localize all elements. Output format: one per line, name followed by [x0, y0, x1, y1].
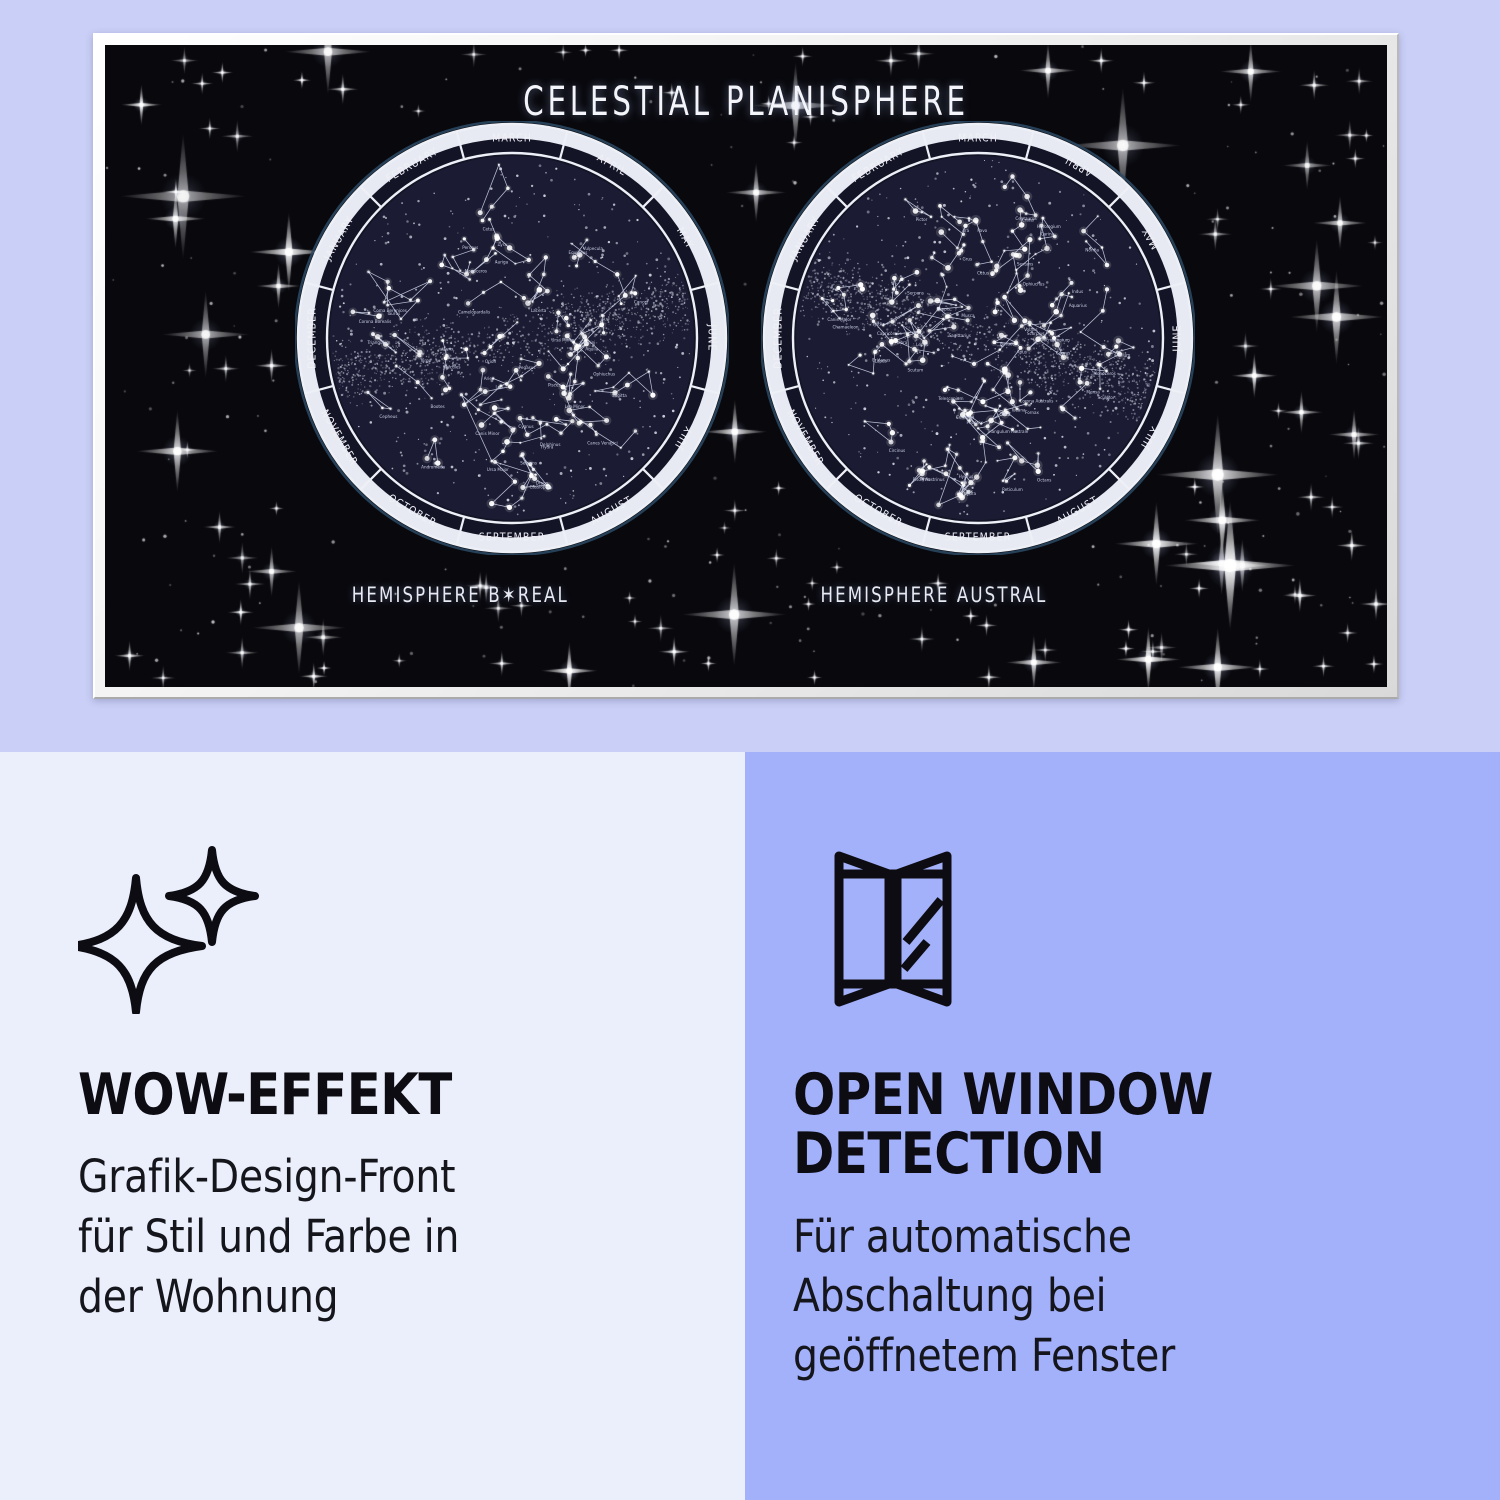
svg-text:Draco: Draco — [536, 481, 549, 487]
svg-text:Cetus: Cetus — [483, 227, 495, 233]
svg-text:JUNE: JUNE — [706, 323, 718, 351]
feature-panel-wow-effekt: WOW-EFFEKT Grafik-Design-Front für Stil … — [0, 752, 745, 1500]
svg-text:DECEMBER: DECEMBER — [307, 307, 319, 369]
svg-text:Leo: Leo — [495, 384, 503, 390]
svg-text:Pyxis: Pyxis — [920, 476, 931, 482]
svg-text:Lynx: Lynx — [444, 347, 454, 353]
svg-text:Aquarius: Aquarius — [1069, 303, 1087, 309]
svg-text:Corvus: Corvus — [1056, 351, 1070, 357]
svg-text:Lupus: Lupus — [875, 359, 887, 365]
svg-text:Capricornus: Capricornus — [877, 331, 902, 337]
svg-text:MARCH: MARCH — [492, 133, 532, 145]
svg-text:Triangulum: Triangulum — [367, 340, 391, 346]
feature-title: WOW-EFFEKT — [78, 1066, 657, 1125]
svg-text:Vela: Vela — [1002, 412, 1011, 418]
svg-text:Puppis: Puppis — [937, 307, 951, 313]
svg-text:Sextans: Sextans — [1017, 262, 1033, 268]
svg-text:Sagitta: Sagitta — [612, 393, 627, 399]
svg-text:SEPTEMBER: SEPTEMBER — [945, 532, 1011, 544]
svg-text:Chamaeleon: Chamaeleon — [833, 324, 859, 330]
svg-text:Corona Borealis: Corona Borealis — [359, 319, 392, 325]
svg-text:Hydra: Hydra — [541, 445, 554, 451]
feature-panels: WOW-EFFEKT Grafik-Design-Front für Stil … — [0, 752, 1500, 1500]
svg-text:SEPTEMBER: SEPTEMBER — [479, 532, 545, 544]
svg-text:Horologium: Horologium — [1037, 224, 1061, 230]
svg-text:Coma Berenices: Coma Berenices — [373, 308, 407, 314]
svg-text:Leo Minor: Leo Minor — [565, 404, 585, 410]
svg-text:Columba: Columba — [956, 415, 975, 421]
svg-text:Pegasus: Pegasus — [519, 365, 536, 371]
svg-text:Corona Australis: Corona Australis — [1020, 398, 1054, 404]
svg-text:MARCH: MARCH — [958, 133, 998, 145]
open-window-icon — [793, 844, 1430, 1014]
svg-text:Apus: Apus — [1017, 350, 1027, 356]
svg-text:Cancer: Cancer — [634, 299, 649, 305]
svg-text:Canis Minor: Canis Minor — [475, 431, 500, 437]
svg-text:Pictor: Pictor — [916, 217, 928, 223]
svg-text:Ursa Major: Ursa Major — [487, 467, 509, 473]
svg-text:DECEMBER: DECEMBER — [773, 307, 785, 369]
hemisphere-north-chart: MARCHAPRILMAYJUNEJULYAUGUSTSEPTEMBEROCTO… — [295, 121, 729, 555]
svg-text:Antlia: Antlia — [873, 321, 885, 327]
svg-text:Musca: Musca — [961, 313, 975, 319]
svg-text:Hydra: Hydra — [964, 491, 977, 497]
svg-text:Dorado: Dorado — [1000, 341, 1016, 347]
svg-text:Serpens: Serpens — [520, 460, 537, 466]
svg-text:Lyra: Lyra — [498, 242, 507, 248]
svg-text:Phoenix: Phoenix — [966, 420, 983, 426]
svg-text:Monoceros: Monoceros — [465, 268, 487, 274]
svg-text:Lepus: Lepus — [916, 342, 928, 348]
poster-title: CELESTIAL PLANISPHERE — [220, 79, 1271, 125]
svg-text:Lacerta: Lacerta — [531, 308, 547, 314]
svg-text:Andromeda: Andromeda — [421, 464, 445, 470]
feature-body: Für automatische Abschaltung bei geöffne… — [793, 1207, 1411, 1387]
svg-text:Perseus: Perseus — [462, 245, 478, 251]
svg-text:Sculptor: Sculptor — [1098, 395, 1115, 401]
svg-text:Gemini: Gemini — [581, 340, 596, 346]
sparkle-icon — [78, 844, 675, 1014]
svg-text:Indus: Indus — [1072, 289, 1083, 295]
svg-text:Norma: Norma — [1085, 247, 1099, 253]
feature-panel-open-window-detection: OPEN WINDOW DETECTION Für automatische A… — [745, 752, 1500, 1500]
svg-text:Caelum: Caelum — [1114, 353, 1130, 359]
svg-text:Circinus: Circinus — [889, 448, 905, 454]
svg-text:Bootes: Bootes — [430, 404, 444, 410]
hemisphere-north-label: HEMISPHERE B✶REAL — [352, 583, 569, 607]
svg-text:Orion: Orion — [485, 359, 497, 365]
svg-text:Hercules: Hercules — [443, 364, 461, 370]
svg-text:Cepheus: Cepheus — [379, 414, 397, 420]
svg-text:Scorpius: Scorpius — [1027, 331, 1045, 337]
svg-text:Carina: Carina — [1041, 232, 1055, 238]
svg-text:Ursa Minor: Ursa Minor — [551, 337, 574, 343]
svg-text:Canis Major: Canis Major — [827, 317, 851, 323]
svg-text:Scutum: Scutum — [908, 367, 924, 373]
svg-text:Ara: Ara — [962, 228, 970, 234]
hemisphere-south-chart: MARCHFEBRUARYJANUARYDECEMBERNOVEMBEROCTO… — [761, 121, 1195, 555]
svg-text:Aries: Aries — [484, 376, 494, 382]
svg-text:JUNE: JUNE — [1172, 324, 1184, 352]
svg-text:Crater: Crater — [1022, 217, 1035, 223]
feature-body: Grafik-Design-Front für Stil und Farbe i… — [78, 1147, 657, 1327]
svg-text:Ophiuchus: Ophiuchus — [1023, 282, 1045, 288]
svg-text:Pavo: Pavo — [977, 228, 987, 234]
svg-text:Reticulum: Reticulum — [1002, 487, 1023, 493]
svg-text:Grus: Grus — [962, 257, 972, 263]
hemisphere-south-label: HEMISPHERE AUSTRAL — [820, 583, 1047, 607]
svg-text:Fornax: Fornax — [1025, 410, 1040, 416]
svg-text:Vulpecula: Vulpecula — [583, 246, 603, 252]
svg-text:Triangulum Australe: Triangulum Australe — [986, 429, 1029, 435]
svg-text:Cetus: Cetus — [977, 271, 989, 277]
svg-text:Camelopardalis: Camelopardalis — [458, 309, 490, 315]
svg-text:Auriga: Auriga — [495, 259, 509, 265]
svg-text:Tucana: Tucana — [1010, 408, 1026, 414]
svg-text:Cygnus: Cygnus — [518, 424, 533, 430]
svg-text:Octans: Octans — [1037, 477, 1051, 483]
svg-text:Microscopium: Microscopium — [1041, 337, 1069, 343]
svg-text:Pisces: Pisces — [548, 383, 561, 389]
svg-text:Libra: Libra — [897, 340, 908, 346]
svg-text:Canes Venatici: Canes Venatici — [587, 441, 617, 447]
svg-text:Hydrus: Hydrus — [959, 474, 974, 480]
svg-text:Mensa: Mensa — [1086, 389, 1100, 395]
svg-text:Monoceros: Monoceros — [1093, 371, 1115, 377]
picture-frame: CELESTIAL PLANISPHERE MARCHAPRILMAYJUNEJ… — [93, 33, 1399, 699]
svg-text:Serpens: Serpens — [907, 291, 924, 297]
celestial-poster-artwork: CELESTIAL PLANISPHERE MARCHAPRILMAYJUNEJ… — [105, 45, 1387, 687]
svg-text:Virgo: Virgo — [421, 358, 432, 364]
feature-title: OPEN WINDOW DETECTION — [793, 1066, 1411, 1185]
svg-text:Ophiuchus: Ophiuchus — [593, 372, 615, 378]
svg-text:Telescopium: Telescopium — [937, 396, 963, 402]
hero-product-image: CELESTIAL PLANISPHERE MARCHAPRILMAYJUNEJ… — [0, 0, 1500, 752]
svg-text:Aquila: Aquila — [585, 347, 598, 353]
svg-text:Sagittarius: Sagittarius — [949, 333, 971, 339]
